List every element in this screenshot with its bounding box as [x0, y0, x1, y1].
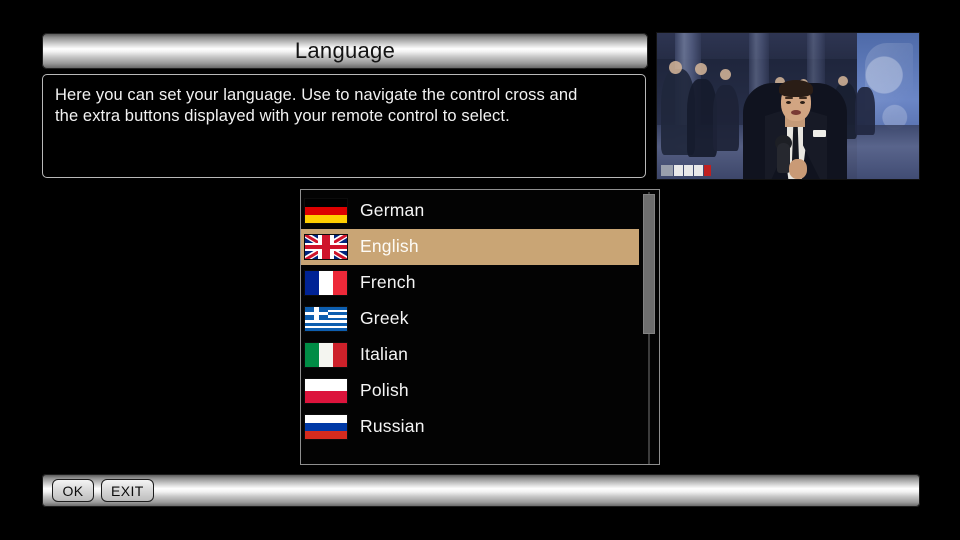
language-list-item-italian[interactable]: Italian — [301, 337, 639, 373]
language-list-scrollbar[interactable] — [643, 192, 657, 464]
germany-flag-icon — [304, 198, 348, 224]
france-flag-icon — [304, 270, 348, 296]
video-crowd-head — [720, 69, 731, 80]
scrollbar-thumb[interactable] — [643, 194, 655, 334]
language-list-item-label: German — [360, 202, 424, 220]
video-reporter-eyebrow — [799, 97, 807, 99]
help-description-box: Here you can set your language. Use to n… — [42, 74, 646, 178]
video-reporter-eye — [786, 101, 791, 104]
page-title: Language — [295, 40, 395, 62]
video-crowd-head — [695, 63, 707, 75]
language-list-item-label: Italian — [360, 346, 408, 364]
video-crowd-head — [669, 61, 682, 74]
language-list-item-label: Polish — [360, 382, 409, 400]
language-list-item-greek[interactable]: Greek — [301, 301, 639, 337]
video-reporter-hair — [779, 80, 813, 97]
poland-flag-icon — [304, 378, 348, 404]
united-kingdom-flag-icon — [304, 234, 348, 260]
language-list-item-french[interactable]: French — [301, 265, 639, 301]
video-reporter-eyebrow — [785, 97, 793, 99]
exit-button-label: EXIT — [111, 484, 144, 498]
language-list-panel[interactable]: GermanEnglishFrenchGreekItalianPolishRus… — [300, 189, 660, 465]
italy-flag-icon — [304, 342, 348, 368]
language-list-item-german[interactable]: German — [301, 193, 639, 229]
language-list-item-label: Russian — [360, 418, 425, 436]
video-crowd-figure — [713, 85, 739, 151]
video-reporter-mouth — [791, 110, 801, 115]
language-list-item-label: English — [360, 238, 419, 256]
language-list[interactable]: GermanEnglishFrenchGreekItalianPolishRus… — [301, 193, 639, 445]
language-list-item-polish[interactable]: Polish — [301, 373, 639, 409]
language-list-item-label: Greek — [360, 310, 409, 328]
language-list-item-english[interactable]: English — [301, 229, 639, 265]
bottom-softkey-bar: OK EXIT — [42, 474, 920, 507]
video-reporter-hand — [789, 159, 807, 179]
greece-flag-icon — [304, 306, 348, 332]
help-description-text: Here you can set your language. Use to n… — [55, 85, 633, 127]
video-crowd-figure — [855, 87, 875, 135]
screen-title-bar: Language — [42, 33, 648, 69]
channel-logo-bug — [661, 165, 711, 176]
video-reporter-eye — [800, 101, 805, 104]
language-list-item-russian[interactable]: Russian — [301, 409, 639, 445]
video-preview[interactable] — [656, 32, 920, 180]
russia-flag-icon — [304, 414, 348, 440]
video-reporter-pocket-square — [813, 130, 826, 137]
video-crowd-head — [838, 76, 848, 86]
language-list-item-label: French — [360, 274, 416, 292]
exit-button[interactable]: EXIT — [101, 479, 154, 502]
ok-button-label: OK — [62, 484, 83, 498]
ok-button[interactable]: OK — [52, 479, 94, 502]
